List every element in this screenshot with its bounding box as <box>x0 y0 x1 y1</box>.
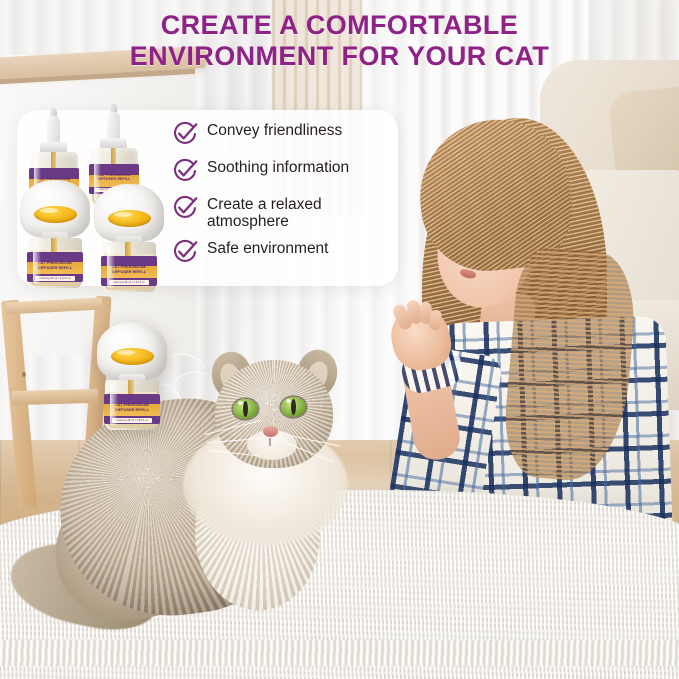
feature-item-3: Create a relaxed atmosphere <box>172 194 390 231</box>
oval-highlight <box>117 350 135 355</box>
check-circle-icon <box>172 239 198 265</box>
label-line2: DIFFUSER REFILL <box>38 265 72 270</box>
feature-item-4: Safe environment <box>172 238 390 265</box>
check-circle-icon <box>172 121 198 147</box>
feature-text-line2: atmosphere <box>207 213 322 230</box>
feature-text-line1: Soothing information <box>207 159 349 176</box>
feature-item-1: Convey friendliness <box>172 120 390 147</box>
cat-mouth <box>269 438 271 446</box>
check-circle-icon <box>172 158 198 184</box>
label-line2: DIFFUSER REFILL <box>115 407 149 412</box>
label-subtext-band: Calming 48 ml / 1.62 fl oz <box>112 418 152 423</box>
check-circle-icon <box>172 195 198 221</box>
diffuser-unit: CAT PHEROMONE DIFFUSER REFILL Calming 48… <box>94 184 164 292</box>
oval-highlight <box>40 208 58 213</box>
diffuser-unit: CAT PHEROMONE DIFFUSER REFILL Calming 48… <box>20 180 90 288</box>
feature-label: Convey friendliness <box>207 120 342 139</box>
hero-diffuser-product: CAT PHEROMONE DIFFUSER REFILL Calming 48… <box>97 322 167 430</box>
label-line2: DIFFUSER REFILL <box>112 269 146 274</box>
cat-nose <box>263 426 278 437</box>
feature-label: Safe environment <box>207 238 329 257</box>
label-sub: Calming 48 ml / 1.62 fl oz <box>35 276 75 281</box>
feature-label: Create a relaxed atmosphere <box>207 194 322 231</box>
cat-eye-glint-right <box>286 399 291 403</box>
cat-pupil-left <box>243 401 248 417</box>
product-marketing-image: CAT PHEROMONE DIFFUSER REFILL Calming 48… <box>0 0 679 679</box>
product-cluster: CAT PHEROMONE DIFFUSER REFILL Calming 48… <box>22 112 170 290</box>
cat-pupil-right <box>291 399 296 415</box>
label-sub: Calming 48 ml / 1.62 fl oz <box>109 280 149 285</box>
stool-wood-knot <box>22 372 26 377</box>
label-line2: DIFFUSER REFILL <box>97 177 130 181</box>
oval-highlight <box>114 212 132 217</box>
jar-gloss <box>33 240 41 284</box>
jar-gloss <box>107 244 115 288</box>
feature-text-line1: Create a relaxed <box>207 196 322 213</box>
feature-list: Convey friendliness Soothing information <box>172 120 390 275</box>
feature-text-line1: Convey friendliness <box>207 122 342 139</box>
jar-gloss <box>110 382 118 426</box>
label-subtext-band: Calming 48 ml / 1.62 fl oz <box>35 276 75 281</box>
label-sub: Calming 48 ml / 1.62 fl oz <box>112 418 152 423</box>
feature-text-line1: Safe environment <box>207 240 329 257</box>
label-subtext-band: Calming 48 ml / 1.62 fl oz <box>109 280 149 285</box>
rug-front-edge <box>0 640 679 666</box>
label-line1: CAT PHEROMONE <box>98 173 131 177</box>
cat-eye-glint-left <box>238 401 243 405</box>
feature-item-2: Soothing information <box>172 157 390 184</box>
feature-label: Soothing information <box>207 157 349 176</box>
